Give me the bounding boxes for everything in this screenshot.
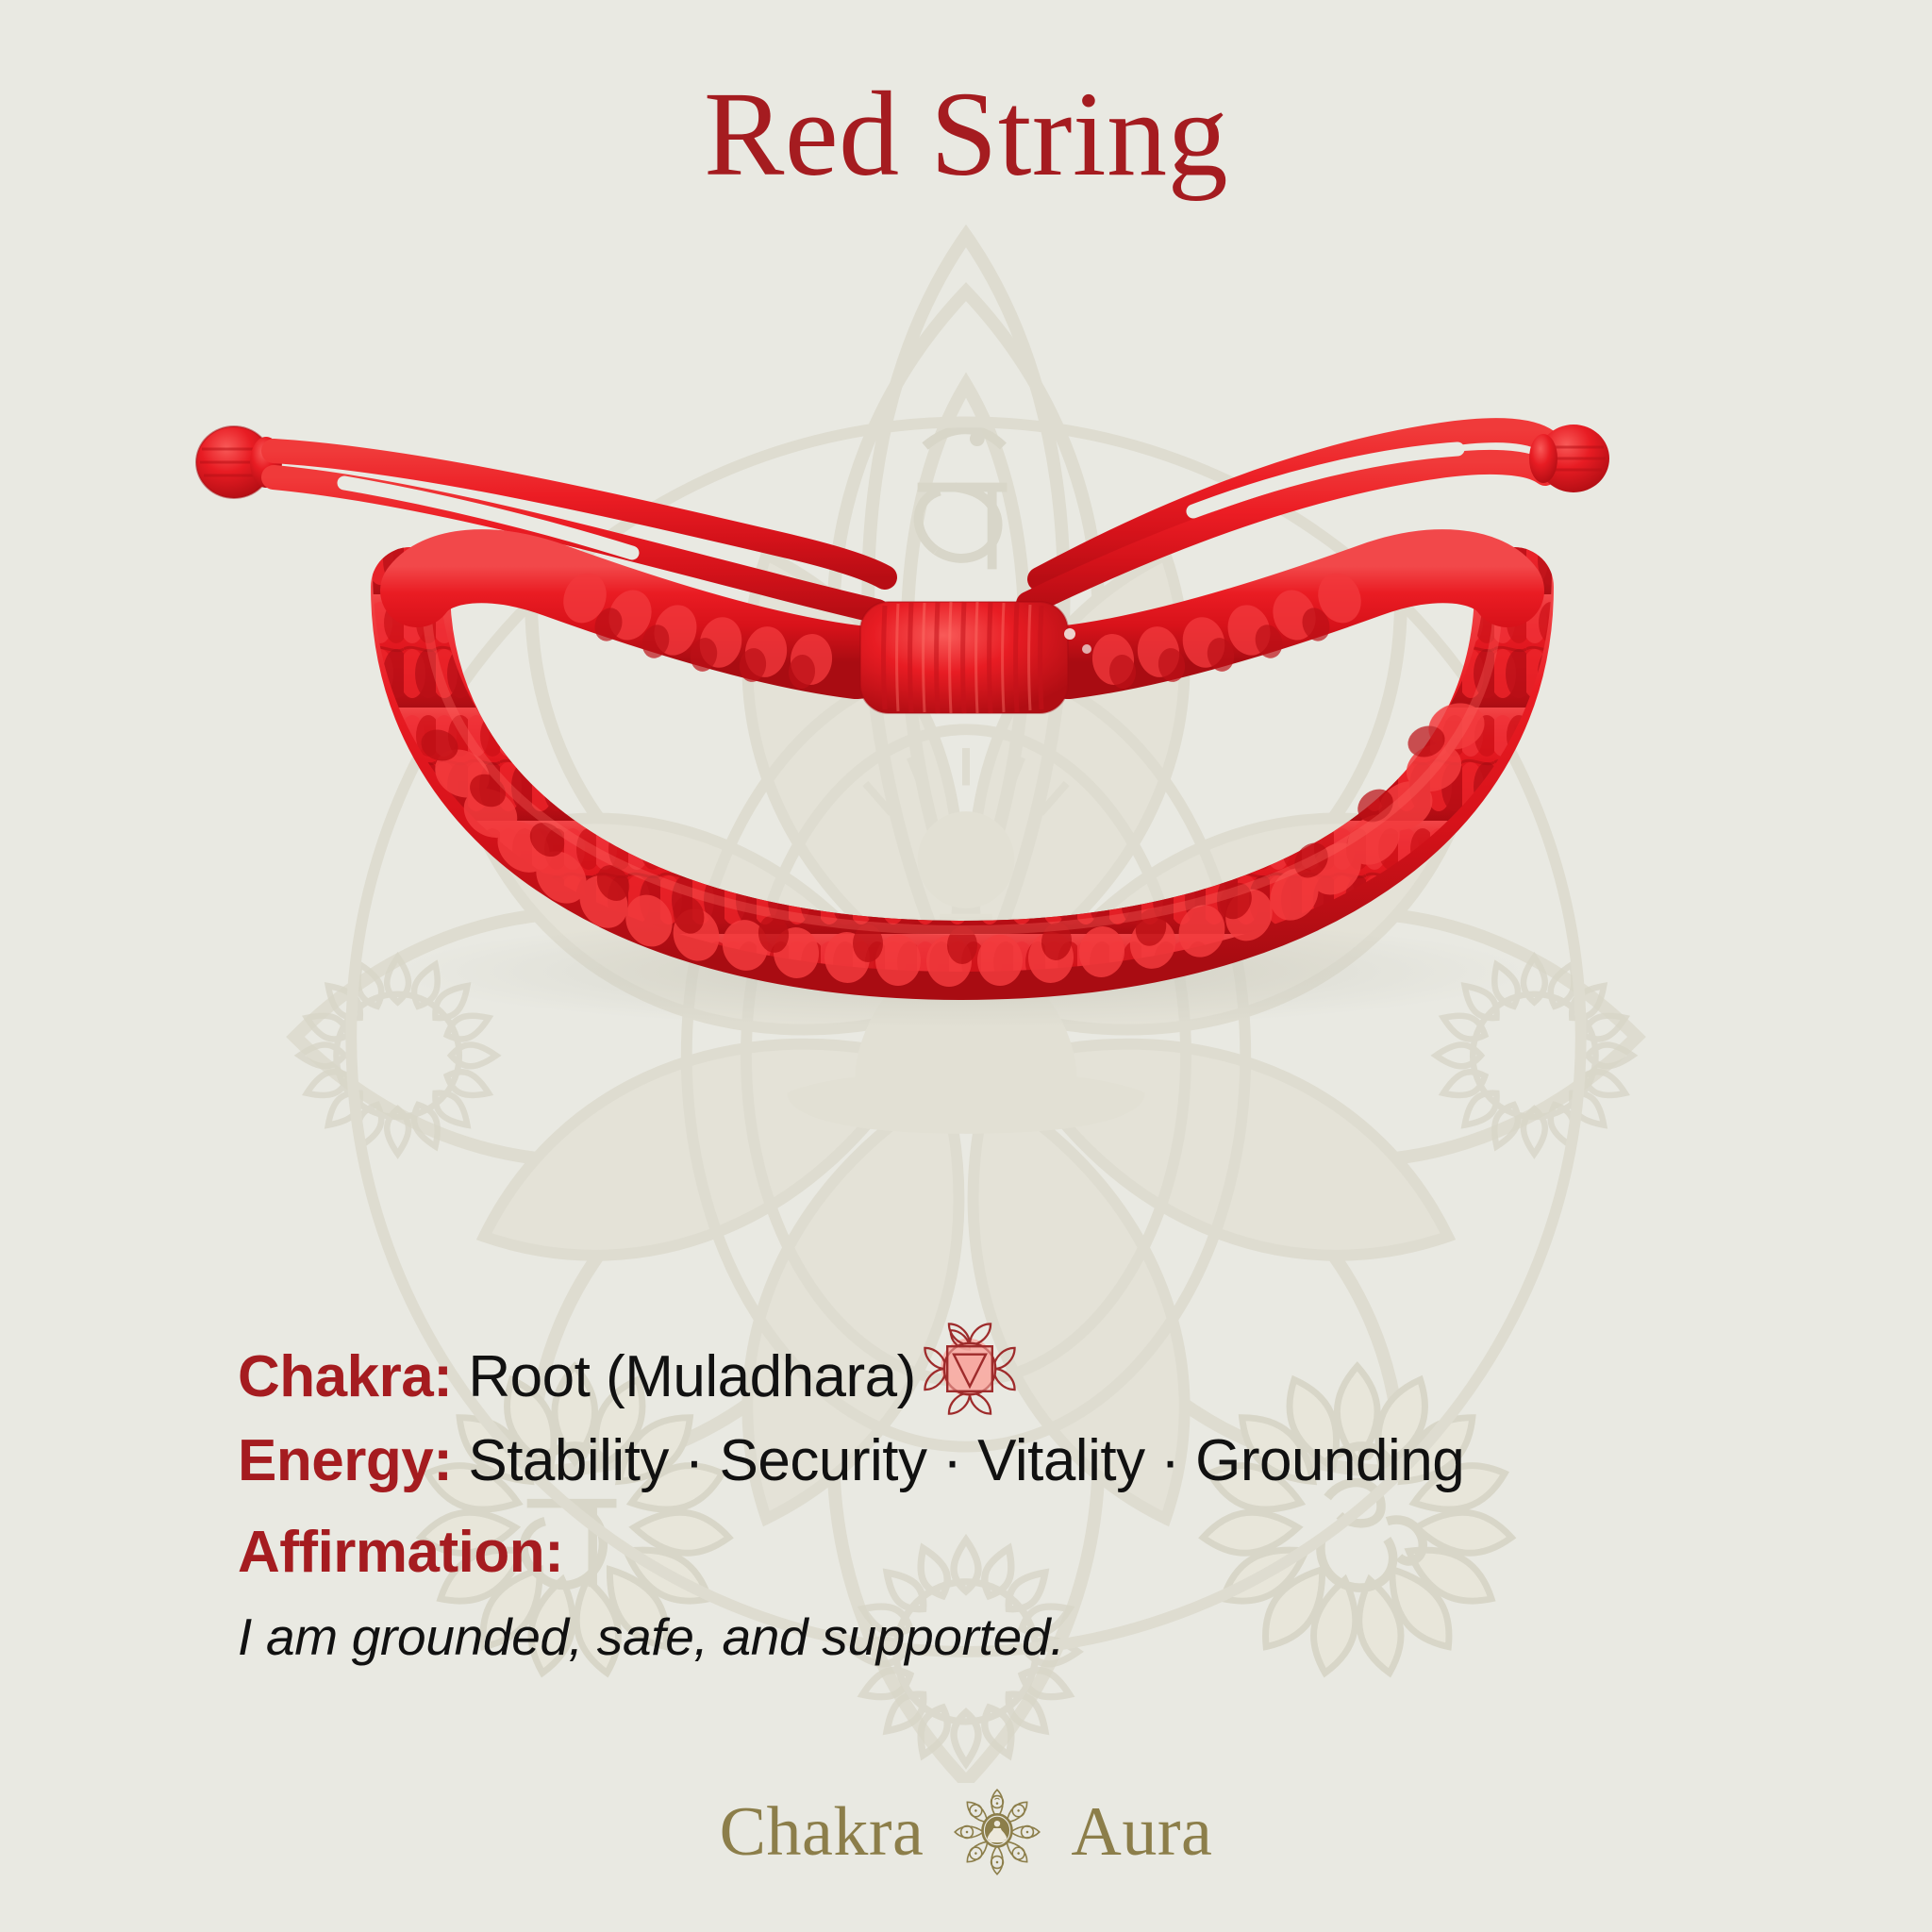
info-row-affirmation: Affirmation: I am grounded, safe, and su… [238,1519,1709,1667]
lotus-mandala-emblem [952,1787,1042,1877]
chakra-value: Root (Muladhara) [468,1343,915,1410]
brand-footer: Chakra [0,1787,1932,1877]
page-title: Red String [0,74,1932,194]
product-info: Chakra: Root (Muladhara) [238,1300,1709,1667]
product-card: Red String [0,0,1932,1932]
cord-end-bead-left [196,426,282,498]
affirmation-label: Affirmation: [238,1519,1709,1586]
red-string-bracelet-image [179,368,1745,1047]
muladhara-chakra-icon [922,1321,1018,1417]
brand-word-right: Aura [1071,1797,1212,1867]
energy-value: Stability · Security · Vitality · Ground… [468,1427,1464,1494]
brand-word-left: Chakra [720,1797,924,1867]
info-row-chakra: Chakra: Root (Muladhara) [238,1300,1709,1410]
cord-end-bead-right [1529,425,1609,492]
energy-label: Energy: [238,1427,452,1494]
bracelet-band [410,587,1514,987]
chakra-label: Chakra: [238,1343,452,1410]
affirmation-text: I am grounded, safe, and supported. [238,1607,1709,1667]
info-row-energy: Energy: Stability · Security · Vitality … [238,1427,1709,1494]
sliding-knot [860,602,1091,713]
